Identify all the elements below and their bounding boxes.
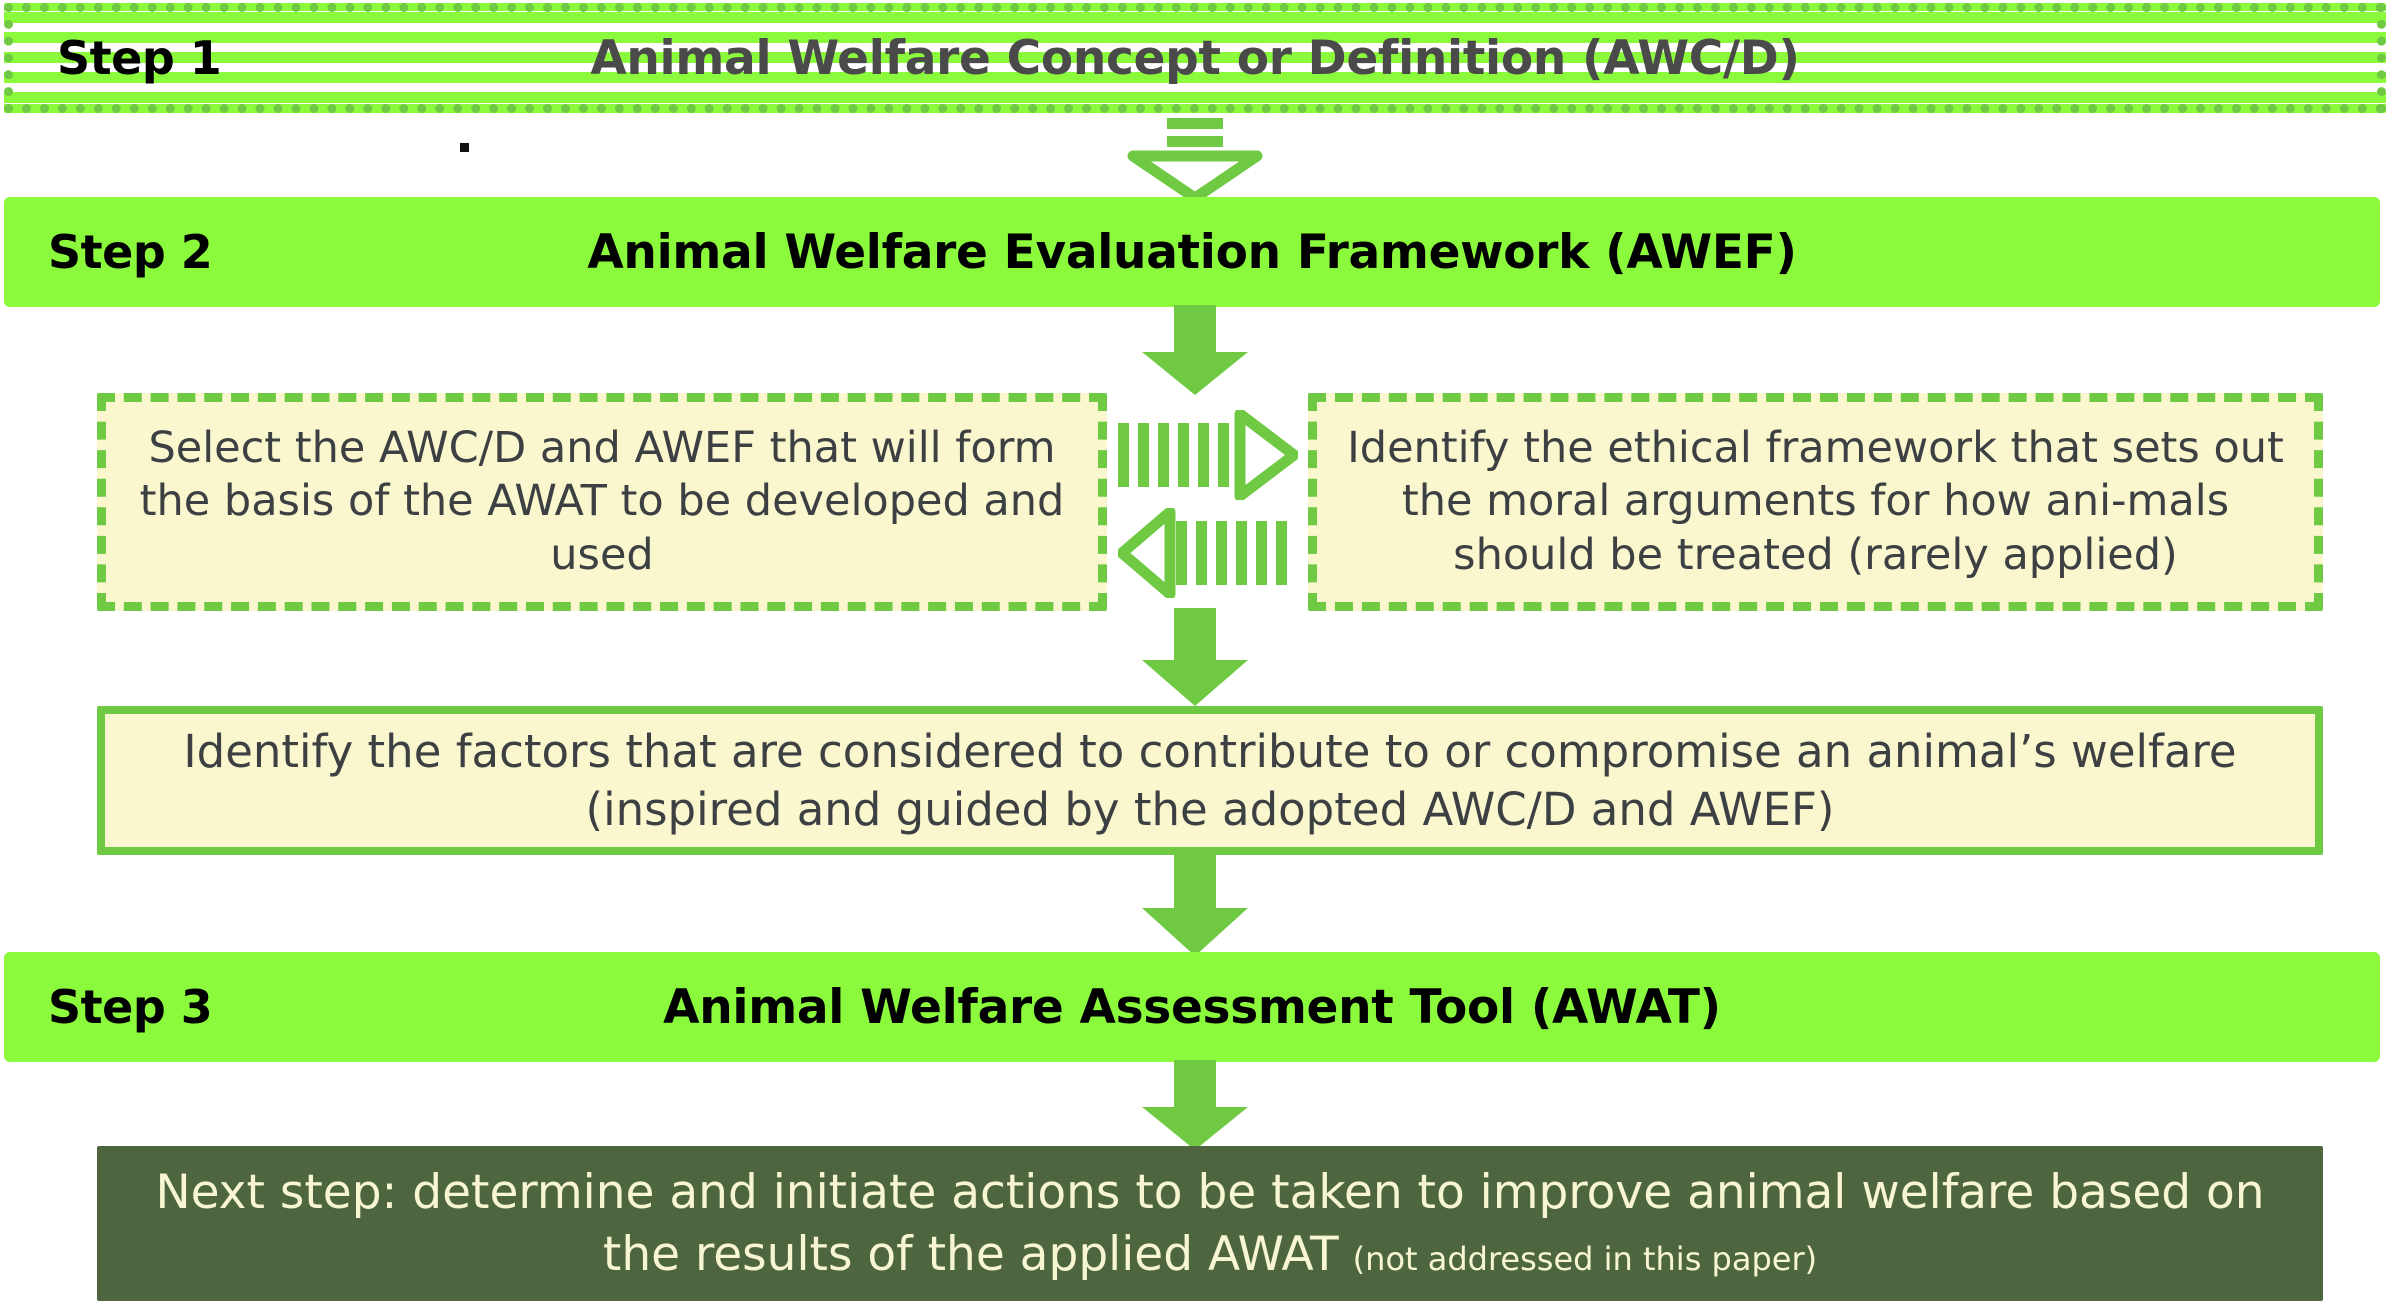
step-1-title: Animal Welfare Concept or Definition (AW…	[590, 31, 1799, 86]
arrow-step3-to-next-step-icon	[1138, 1060, 1252, 1152]
step-2-title: Animal Welfare Evaluation Framework (AWE…	[587, 225, 1796, 280]
arrow-factors-to-step3-icon	[1138, 853, 1252, 958]
identify-factors-box: Identify the factors that are considered…	[97, 706, 2323, 855]
arrow-step2-to-pair-icon	[1138, 305, 1252, 397]
step-3-label: Step 3	[48, 980, 212, 1034]
arrow-right-to-left-striped-icon	[1118, 508, 1298, 598]
identify-ethical-framework-box: Identify the ethical framework that sets…	[1308, 393, 2323, 611]
diagram-canvas: Step 1 Animal Welfare Concept or Definit…	[0, 0, 2390, 1308]
step-2-bar: Step 2 Animal Welfare Evaluation Framewo…	[4, 197, 2380, 307]
step-1-label: Step 1	[57, 31, 221, 85]
next-step-main-text: Next step: determine and initiate action…	[155, 1165, 2264, 1281]
arrow-left-to-right-striped-icon	[1118, 410, 1298, 500]
scan-artifact-dot	[460, 143, 469, 152]
step-3-title: Animal Welfare Assessment Tool (AWAT)	[663, 980, 1721, 1035]
step-2-label: Step 2	[48, 225, 212, 279]
select-awcd-awef-box: Select the AWC/D and AWEF that will form…	[97, 393, 1107, 611]
identify-ethical-framework-text: Identify the ethical framework that sets…	[1335, 422, 2296, 582]
arrow-step1-to-step2-icon	[1125, 118, 1265, 200]
next-step-note-text: (not addressed in this paper)	[1353, 1240, 1817, 1278]
identify-factors-text: Identify the factors that are considered…	[131, 723, 2289, 838]
next-step-text-wrapper: Next step: determine and initiate action…	[127, 1162, 2293, 1284]
step-1-bar: Step 1 Animal Welfare Concept or Definit…	[4, 3, 2386, 113]
arrow-pair-to-factors-icon	[1138, 608, 1252, 708]
next-step-box: Next step: determine and initiate action…	[97, 1146, 2323, 1301]
select-awcd-awef-text: Select the AWC/D and AWEF that will form…	[124, 422, 1080, 582]
step-3-bar: Step 3 Animal Welfare Assessment Tool (A…	[4, 952, 2380, 1062]
